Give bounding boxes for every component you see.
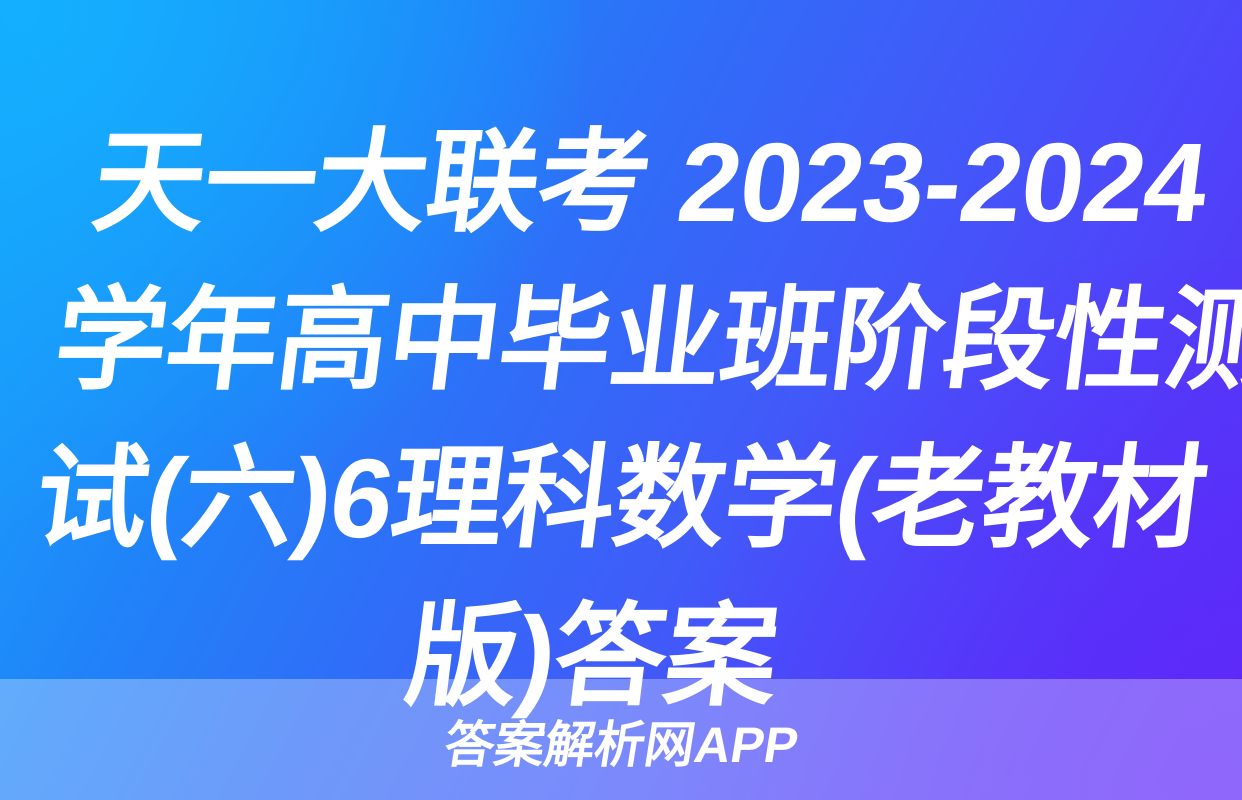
page-title: 天一大联考 2023-2024 学年高中毕业班阶段性测 试(六)6理科数学(老教… (0, 104, 1242, 736)
app-name-label: 答案解析网APP (441, 720, 802, 770)
footer-band-left-edge (0, 679, 5, 800)
poster-canvas: 天一大联考 2023-2024 学年高中毕业班阶段性测 试(六)6理科数学(老教… (0, 0, 1242, 800)
title-line-3: 试(六)6理科数学(老教材 (27, 420, 1196, 578)
title-line-2: 学年高中毕业班阶段性测 (46, 262, 1215, 420)
footer-banner: 答案解析网APP (0, 679, 1242, 800)
title-line-1: 天一大联考 2023-2024 (65, 104, 1234, 262)
